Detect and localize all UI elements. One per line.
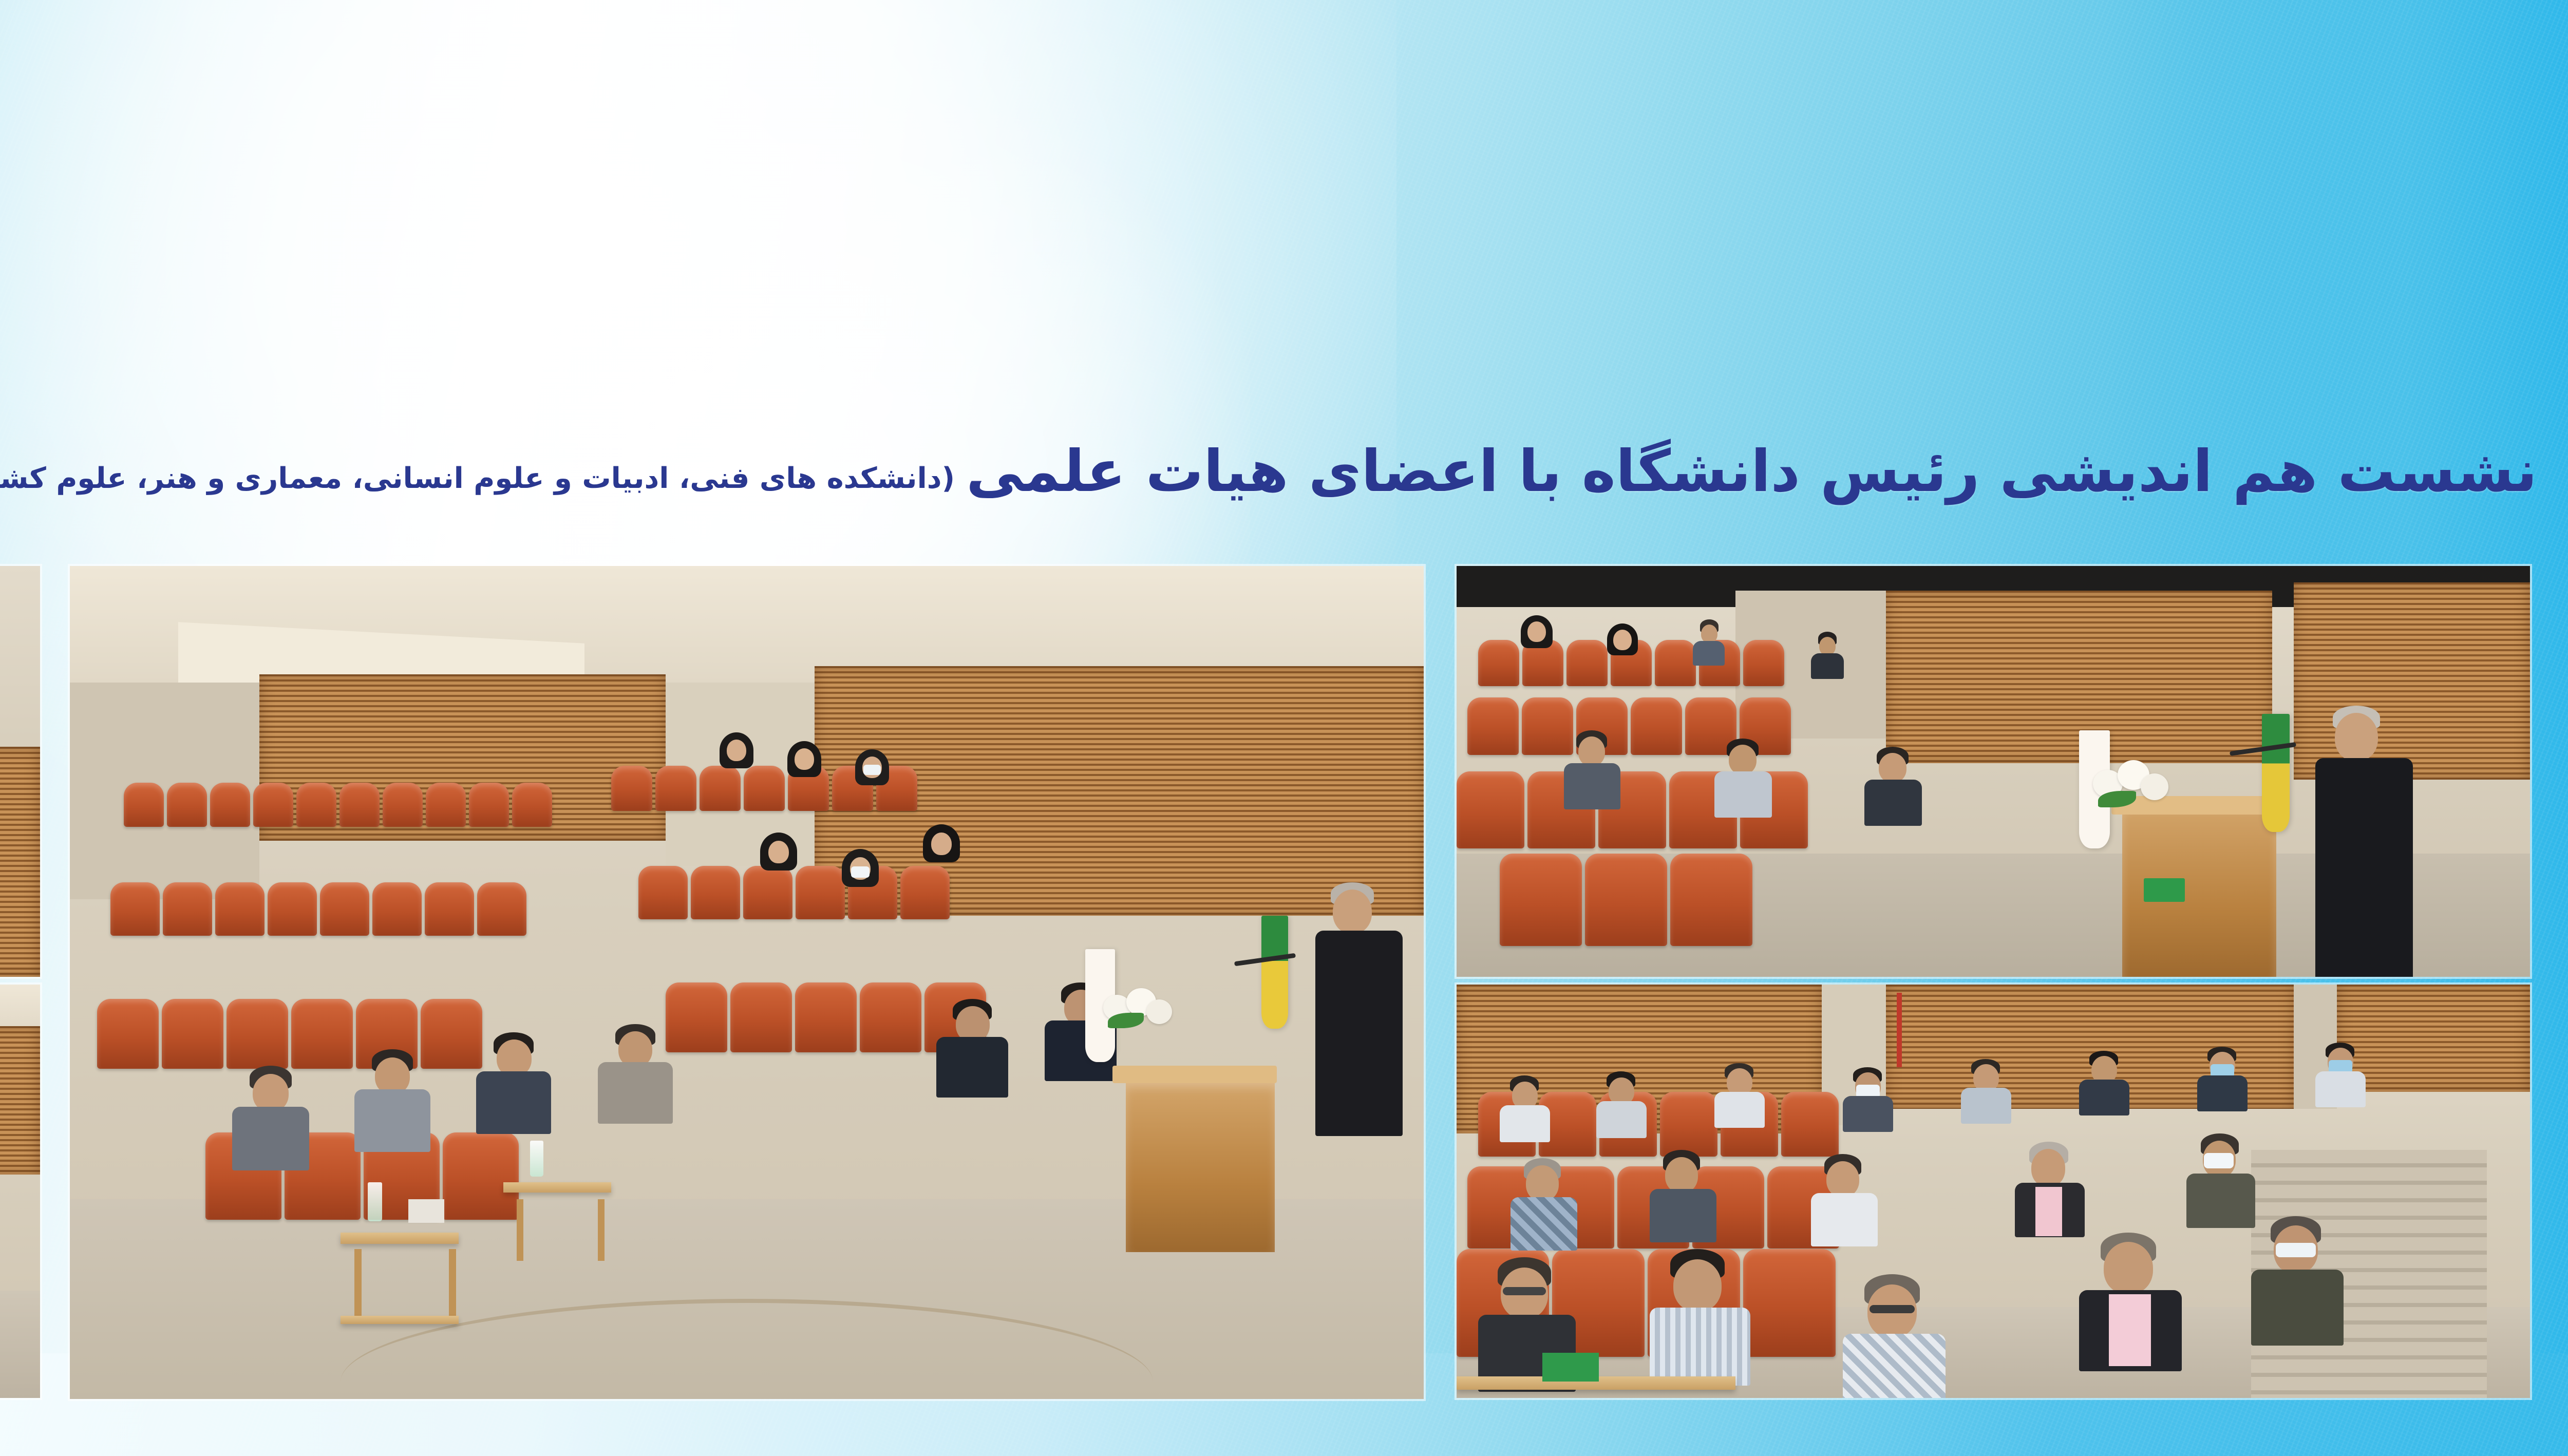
photo-audience-left [0, 985, 40, 1398]
photo-audience-right [1457, 985, 2530, 1398]
photo-president-podium [1457, 566, 2530, 977]
photo-speaker-scene [0, 566, 40, 977]
banner-title-row: نشست هم اندیشی رئیس دانشگاه با اعضای هیا… [0, 443, 2537, 515]
banner-title-main: نشست هم اندیشی رئیس دانشگاه با اعضای هیا… [966, 443, 2537, 500]
banner-header: دانشگاه گیلان روابط عمومی دانشگاه گیلان … [0, 0, 2568, 542]
photo-speaker-podium [0, 566, 40, 977]
photo-audience-right-scene [1457, 985, 2530, 1398]
photo-hall-overview [70, 566, 1424, 1399]
photo-president-podium-scene [1457, 566, 2530, 977]
photo-collage [0, 545, 2568, 1419]
event-banner: دانشگاه گیلان روابط عمومی دانشگاه گیلان … [0, 0, 2568, 1456]
photo-audience-left-scene [0, 985, 40, 1398]
banner-title-sub: (دانشکده های فنی، ادبیات و علوم انسانی، … [0, 464, 955, 493]
photo-hall-overview-scene [70, 566, 1424, 1399]
